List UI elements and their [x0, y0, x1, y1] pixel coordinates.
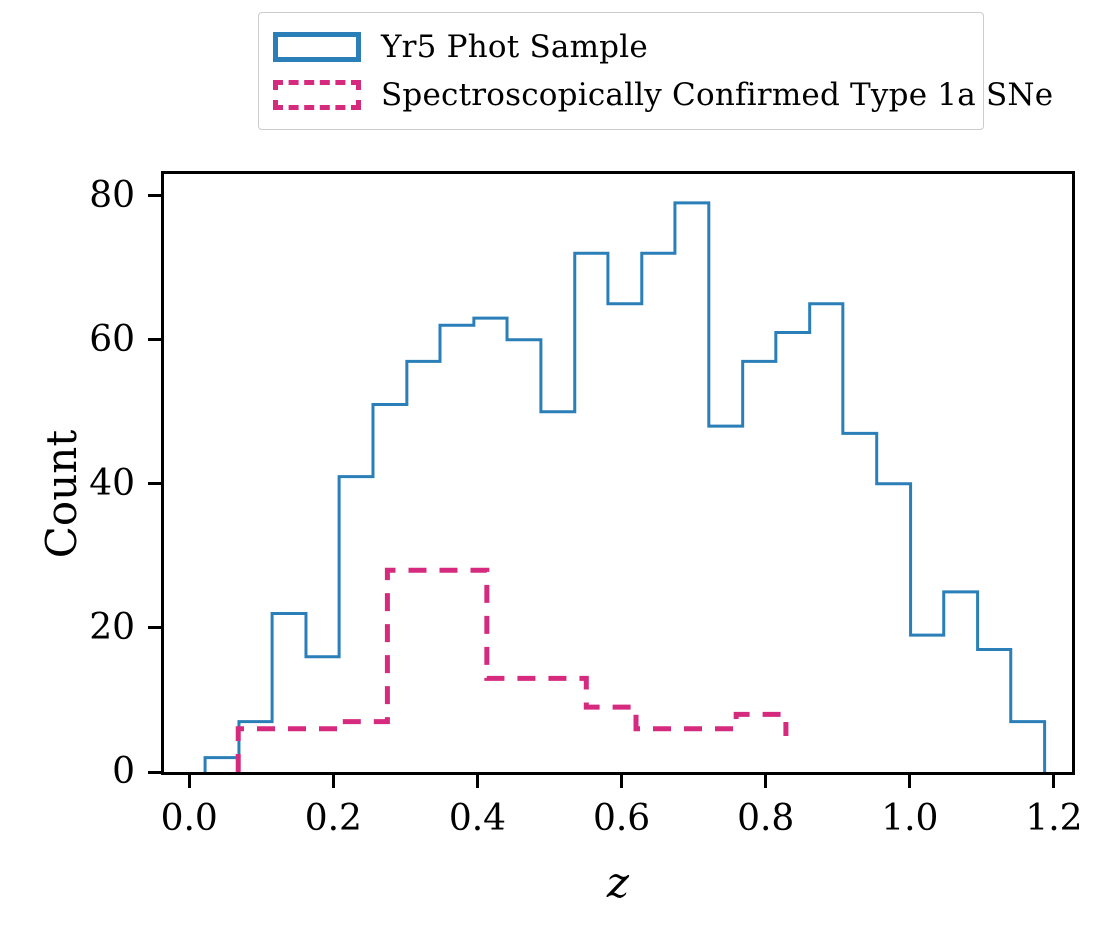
x-tick-label: 1.0	[881, 801, 938, 837]
y-axis-label: Count	[41, 394, 83, 594]
x-tick-label: 1.2	[1025, 801, 1082, 837]
x-axis-ticks: 0.00.20.40.60.81.01.2	[0, 0, 1110, 934]
x-tick-mark	[188, 774, 191, 788]
histogram-figure: Yr5 Phot Sample Spectroscopically Confir…	[0, 0, 1110, 934]
x-tick-label: 0.0	[161, 801, 218, 837]
x-tick-mark	[908, 774, 911, 788]
x-tick-mark	[620, 774, 623, 788]
x-tick-label: 0.6	[593, 801, 650, 837]
x-axis-label: z	[607, 862, 629, 904]
x-tick-mark	[1052, 774, 1055, 788]
x-tick-mark	[476, 774, 479, 788]
x-tick-mark	[332, 774, 335, 788]
x-tick-label: 0.2	[305, 801, 362, 837]
x-tick-mark	[764, 774, 767, 788]
x-tick-label: 0.4	[449, 801, 506, 837]
x-tick-label: 0.8	[737, 801, 794, 837]
